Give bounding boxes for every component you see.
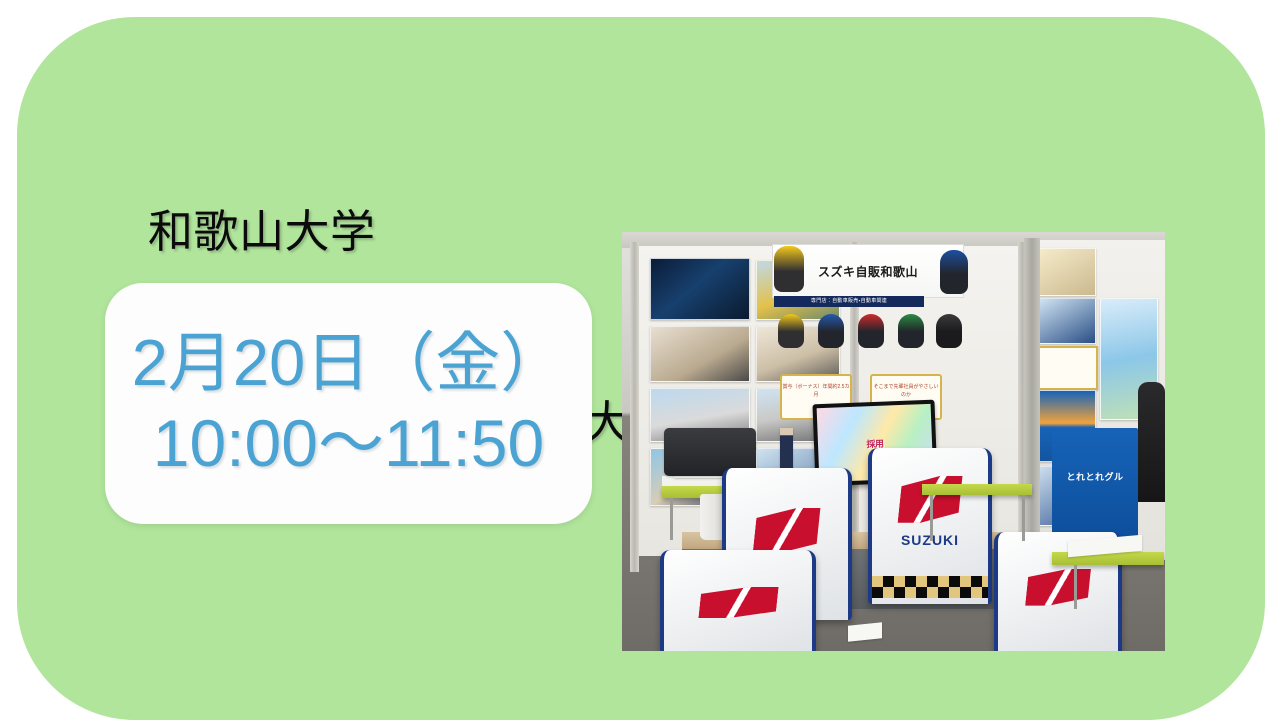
poster-right-speech xyxy=(1036,346,1098,390)
event-time: 10:00〜11:50 xyxy=(153,408,544,479)
mascot-red xyxy=(858,314,884,348)
suzuki-logo-far-right xyxy=(1025,569,1091,606)
neighbour-booth-label: とれとれグル xyxy=(1052,470,1138,483)
side-desk-left-leg-a xyxy=(670,498,673,540)
mascot-yellow-large xyxy=(774,246,804,292)
neighbour-booth-table: とれとれグル xyxy=(1052,428,1138,538)
poster-staff-pair xyxy=(650,326,750,382)
desk-papers-center xyxy=(848,622,882,642)
side-desk-right-upper xyxy=(922,484,1032,495)
poster-right-top xyxy=(1036,248,1096,296)
event-datetime-panel: 2月20日（金） 10:00〜11:50 xyxy=(105,283,592,524)
booth-post-left xyxy=(630,242,639,572)
chair-front-left xyxy=(660,550,816,651)
mascot-black xyxy=(936,314,962,348)
booth-photo: スズキ自販和歌山 専門店：自動車販売・自動車関連 賞与（ボーナス）年間約2.5カ… xyxy=(622,232,1165,651)
side-desk-right-leg-b xyxy=(1022,495,1025,541)
suzuki-logo-front-left xyxy=(698,587,778,618)
side-desk-right-leg-a xyxy=(930,495,933,541)
person-standing xyxy=(1138,382,1165,502)
cutout-person-left xyxy=(780,428,793,472)
booth-banner-text: スズキ自販和歌山 xyxy=(818,263,918,280)
mascot-green xyxy=(898,314,924,348)
mascot-blue-large xyxy=(940,250,968,294)
event-date: 2月20日（金） xyxy=(132,328,565,398)
suzuki-logo-center xyxy=(753,508,821,554)
mascot-yellow xyxy=(778,314,804,348)
poster-right-group xyxy=(1036,298,1096,344)
poster-car-night xyxy=(650,258,750,320)
checker-pattern-right xyxy=(872,576,988,598)
booth-banner-subtitle: 専門店：自動車販売・自動車関連 xyxy=(774,296,924,307)
mascot-blue xyxy=(818,314,844,348)
booth-divider-wall xyxy=(1024,238,1040,568)
side-desk-right-lower-leg xyxy=(1074,565,1077,609)
booth-photo-content: スズキ自販和歌山 専門店：自動車販売・自動車関連 賞与（ボーナス）年間約2.5カ… xyxy=(622,232,1165,651)
slide-root: 和歌山大学 2027年卒業 学部生・大学院生の皆様へ 2月20日（金） 10:0… xyxy=(0,0,1280,720)
